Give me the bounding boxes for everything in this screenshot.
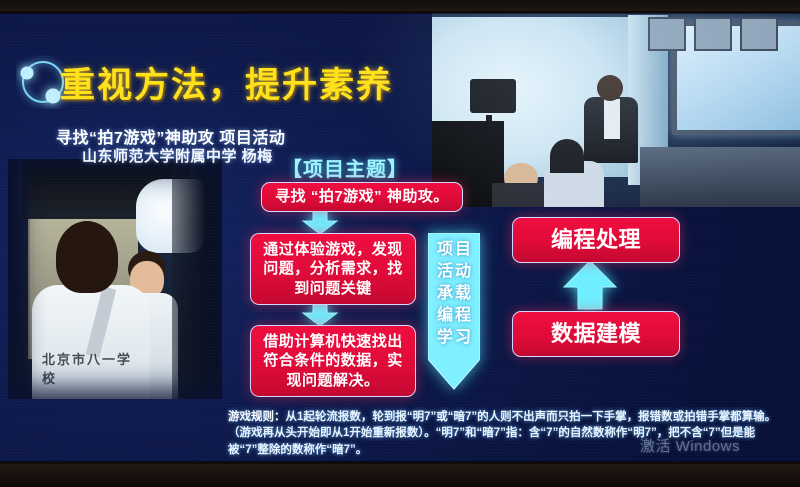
modeling-box: 数据建模 — [512, 311, 680, 357]
whiteboard-in-photo — [672, 21, 800, 135]
presentation-slide: 北京市八一学校 重视方法，提升素养 寻找“拍7游戏”神助攻 项目活动 山东师范大… — [0, 11, 800, 464]
programming-box: 编程处理 — [512, 217, 680, 263]
topic-box: 寻找 “拍7游戏” 神助攻。 — [261, 182, 463, 212]
students-photo: 北京市八一学校 — [8, 159, 222, 399]
arrow-up-icon — [560, 259, 620, 316]
game-rules-label: 游戏规则： — [228, 411, 286, 423]
page-title: 重视方法，提升素养 — [60, 57, 393, 108]
classroom-photo — [432, 11, 800, 207]
step2-box: 借助计算机快速找出符合条件的数据，实现问题解决。 — [250, 325, 416, 397]
step1-box: 通过体验游戏，发现问题，分析需求，找到问题关键 — [250, 233, 416, 305]
camera-in-photo — [470, 79, 516, 113]
slide-screenshot: 北京市八一学校 重视方法，提升素养 寻找“拍7游戏”神助攻 项目活动 山东师范大… — [0, 0, 800, 487]
teacher-in-photo — [597, 75, 623, 101]
banner-label: 项目活动承载编程学习 — [428, 239, 480, 375]
subtitle-author: 山东师范大学附属中学 杨梅 — [82, 145, 273, 166]
game-rules-text: 游戏规则：从1起轮流报数，轮到报“明7”或“暗7”的人则不出声而只拍一下手掌，报… — [228, 409, 784, 458]
student-in-photo — [550, 139, 584, 173]
section-header-project-topic: 【项目主题】 — [282, 153, 408, 182]
bottom-bezel — [0, 462, 800, 487]
game-rules-body: 从1起轮流报数，轮到报“明7”或“暗7”的人则不出声而只拍一下手掌，报错数或拍错… — [228, 411, 776, 456]
